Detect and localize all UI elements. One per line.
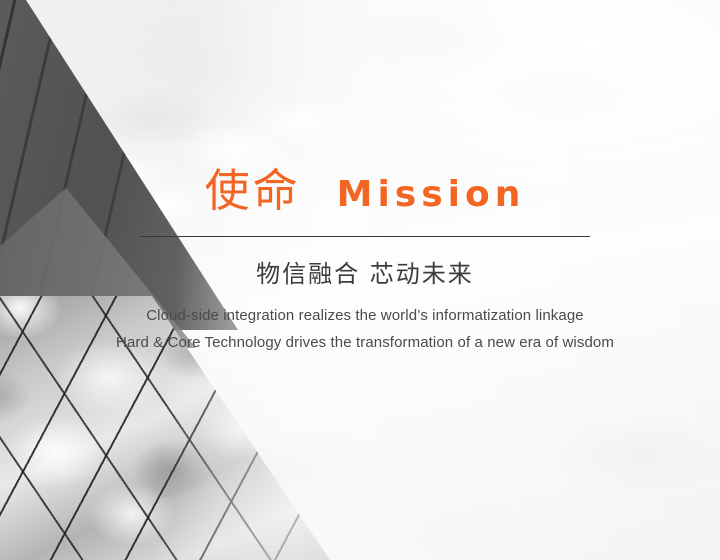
subtitle-chinese: 物信融合 芯动未来 <box>140 258 590 290</box>
tagline-line-2: Hard & Core Technology drives the transf… <box>60 330 670 357</box>
page-title-chinese: 使命 <box>205 168 301 213</box>
slide-content: 使命 Mission 物信融合 芯动未来 Cloud-side integrat… <box>0 0 720 560</box>
title-row: 使命 Mission <box>140 168 590 213</box>
page-title-english: Mission <box>337 177 526 213</box>
title-divider <box>140 236 590 237</box>
tagline-line-1: Cloud-side integration realizes the worl… <box>60 303 670 330</box>
tagline-block: Cloud-side integration realizes the worl… <box>60 303 670 356</box>
mission-slide: 使命 Mission 物信融合 芯动未来 Cloud-side integrat… <box>0 0 720 560</box>
